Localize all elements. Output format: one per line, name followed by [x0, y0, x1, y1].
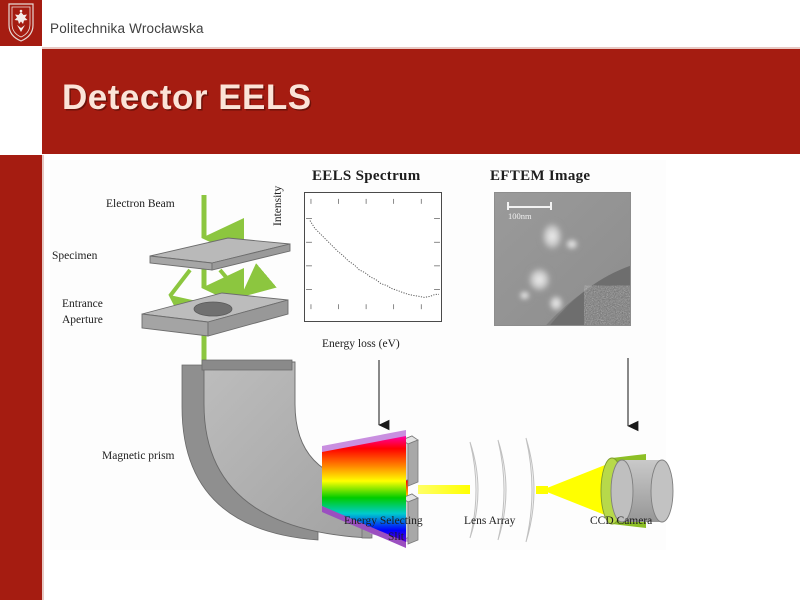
eftem-micrograph: 100nm	[494, 192, 631, 326]
label-magnetic-prism: Magnetic prism	[102, 450, 175, 464]
specimen-plate	[150, 238, 290, 270]
shield-eagle-icon	[7, 3, 35, 43]
page-title: Detector EELS	[62, 78, 312, 118]
label-entrance-aperture-2: Aperture	[62, 314, 103, 328]
eftem-scale-bar	[507, 206, 551, 208]
label-ccd-camera: CCD Camera	[590, 515, 652, 529]
spectrum-curve	[305, 193, 441, 321]
eftem-title: EFTEM Image	[490, 168, 590, 186]
left-accent-rail	[0, 155, 42, 600]
label-lens-array: Lens Array	[464, 515, 515, 529]
eels-detector-diagram: Electron Beam Specimen Entrance Aperture…	[50, 160, 666, 550]
label-electron-beam: Electron Beam	[106, 198, 175, 212]
converging-beam	[542, 463, 610, 517]
eels-spectrum-ylabel: Intensity	[272, 186, 286, 226]
eels-spectrum-plot	[304, 192, 442, 322]
eels-spectrum-title: EELS Spectrum	[312, 168, 421, 186]
university-logo	[0, 0, 42, 46]
slide-root: Politechnika Wrocławska Detector EELS	[0, 0, 800, 600]
label-specimen: Specimen	[52, 250, 97, 264]
eftem-scale-cap-left	[507, 202, 509, 210]
eftem-scale-label: 100nm	[508, 211, 532, 221]
entrance-aperture-plate	[142, 293, 288, 336]
left-rail-edge	[42, 155, 44, 600]
label-slit-2: Slit	[388, 531, 404, 545]
institution-name: Politechnika Wrocławska	[50, 21, 204, 36]
eels-spectrum-xlabel: Energy loss (eV)	[322, 338, 400, 352]
label-entrance-aperture-1: Entrance	[62, 298, 103, 312]
label-slit-1: Energy Selecting	[344, 515, 423, 529]
eftem-scale-cap-right	[550, 202, 552, 210]
filtered-beam-segment	[418, 485, 470, 494]
